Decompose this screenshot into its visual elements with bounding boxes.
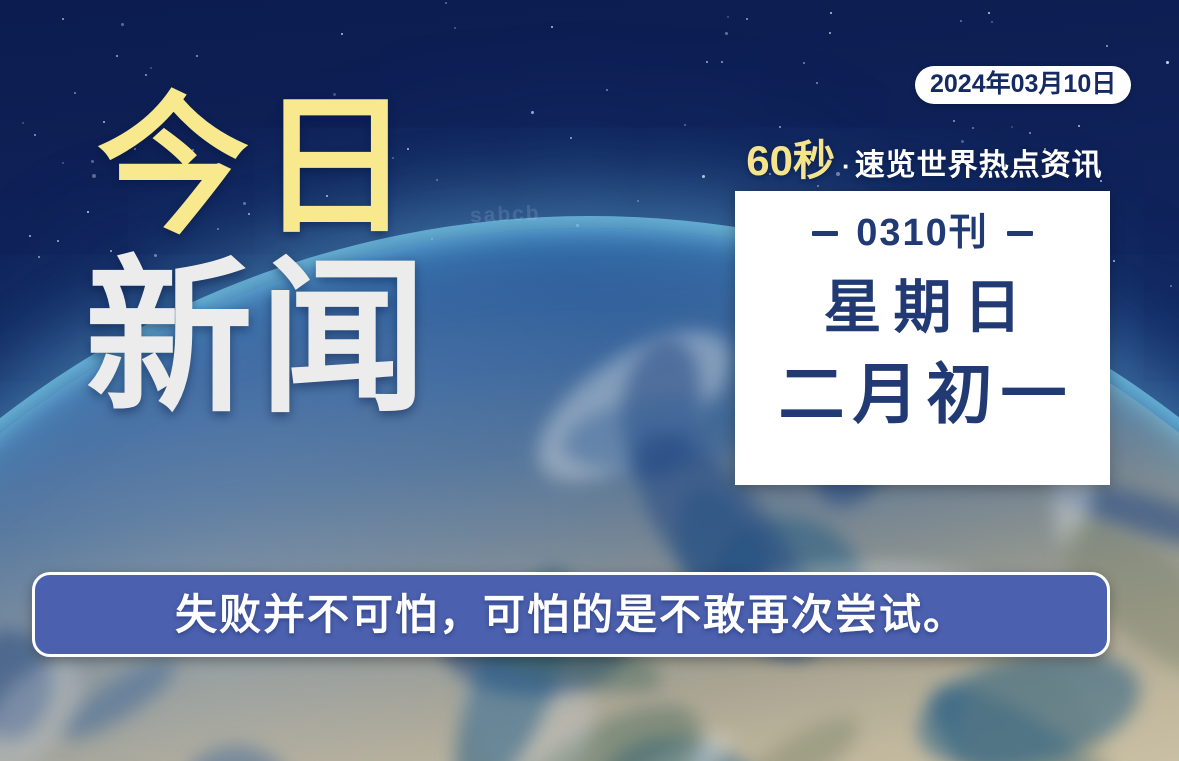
tagline-description: 速览世界热点资讯 [855,149,1103,183]
card-issue-row: 0310刊 [812,211,1033,255]
title-line-xinwen: 新闻 [44,256,474,420]
card-lunar-date: 二月初一 [771,359,1075,429]
title-line-jinri: 今日 [44,92,474,242]
card-issue-label: 0310刊 [856,211,989,255]
background-watermark: sabcb [470,202,541,228]
quote-text: 失败并不可怕，可怕的是不敢再次尝试。 [175,592,967,638]
poster-title: 今日 新闻 [44,92,474,420]
dash-left-icon [812,231,838,236]
tagline-separator-dot: · [842,151,851,182]
quote-bar: 失败并不可怕，可怕的是不敢再次尝试。 [32,572,1110,657]
tagline-seconds: 60秒 [746,140,835,182]
dash-right-icon [1007,231,1033,236]
date-badge: 2024年03月10日 [915,66,1131,104]
news-poster: 今日 新闻 sabcb 2024年03月10日 60秒 · 速览世界热点资讯 0… [0,0,1179,761]
card-weekday: 星期日 [811,277,1033,339]
tagline: 60秒 · 速览世界热点资讯 [737,140,1112,183]
date-info-card: 0310刊 星期日 二月初一 [735,191,1110,485]
